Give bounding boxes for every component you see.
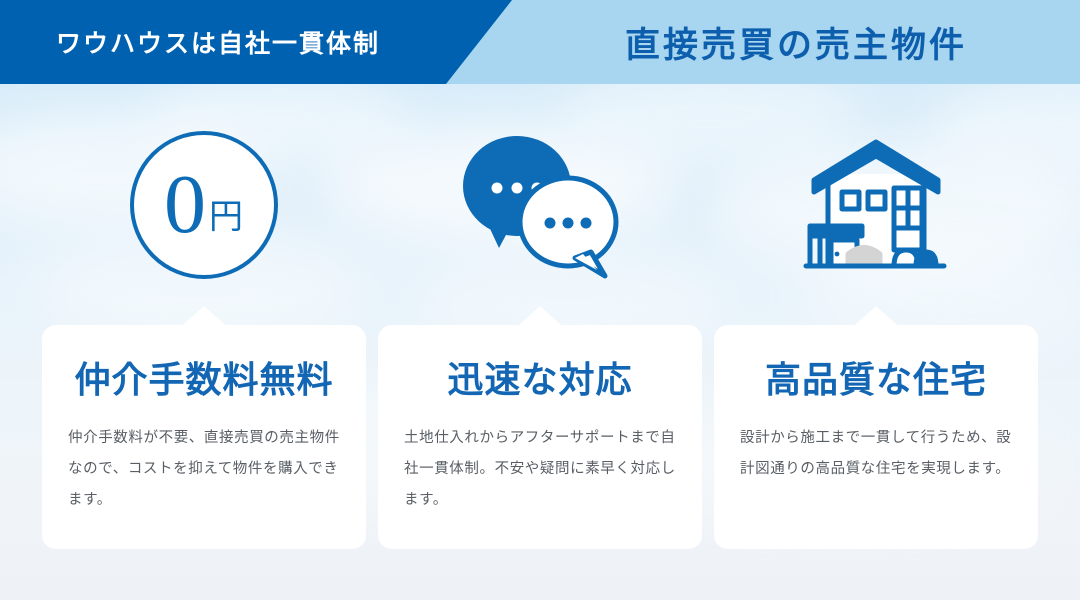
card-title: 仲介手数料無料 [68, 325, 340, 401]
feature-card-quality: 高品質な住宅 設計から施工まで一貫して行うため、設計図通りの高品質な住宅を実現し… [714, 325, 1038, 549]
card-title: 高品質な住宅 [740, 325, 1012, 401]
feature-card-response: 迅速な対応 土地仕入れからアフターサポートまで自社一貫体制。不安や疑問に素早く対… [378, 325, 702, 549]
card-notch-arrow-icon [855, 306, 897, 325]
card-notch-arrow-icon [183, 306, 225, 325]
card-title: 迅速な対応 [404, 325, 676, 401]
card-body-text: 土地仕入れからアフターサポートまで自社一貫体制。不安や疑問に素早く対応します。 [404, 401, 676, 516]
card-body-text: 設計から施工まで一貫して行うため、設計図通りの高品質な住宅を実現します。 [740, 401, 1012, 485]
feature-cards: 仲介手数料無料 仲介手数料が不要、直接売買の売主物件なので、コストを抑えて物件を… [0, 0, 1080, 600]
card-notch-arrow-icon [519, 306, 561, 325]
card-body-text: 仲介手数料が不要、直接売買の売主物件なので、コストを抑えて物件を購入できます。 [68, 401, 340, 516]
promo-banner: ワウハウスは自社一貫体制 直接売買の売主物件 0 円 [0, 0, 1080, 600]
feature-card-fee: 仲介手数料無料 仲介手数料が不要、直接売買の売主物件なので、コストを抑えて物件を… [42, 325, 366, 549]
